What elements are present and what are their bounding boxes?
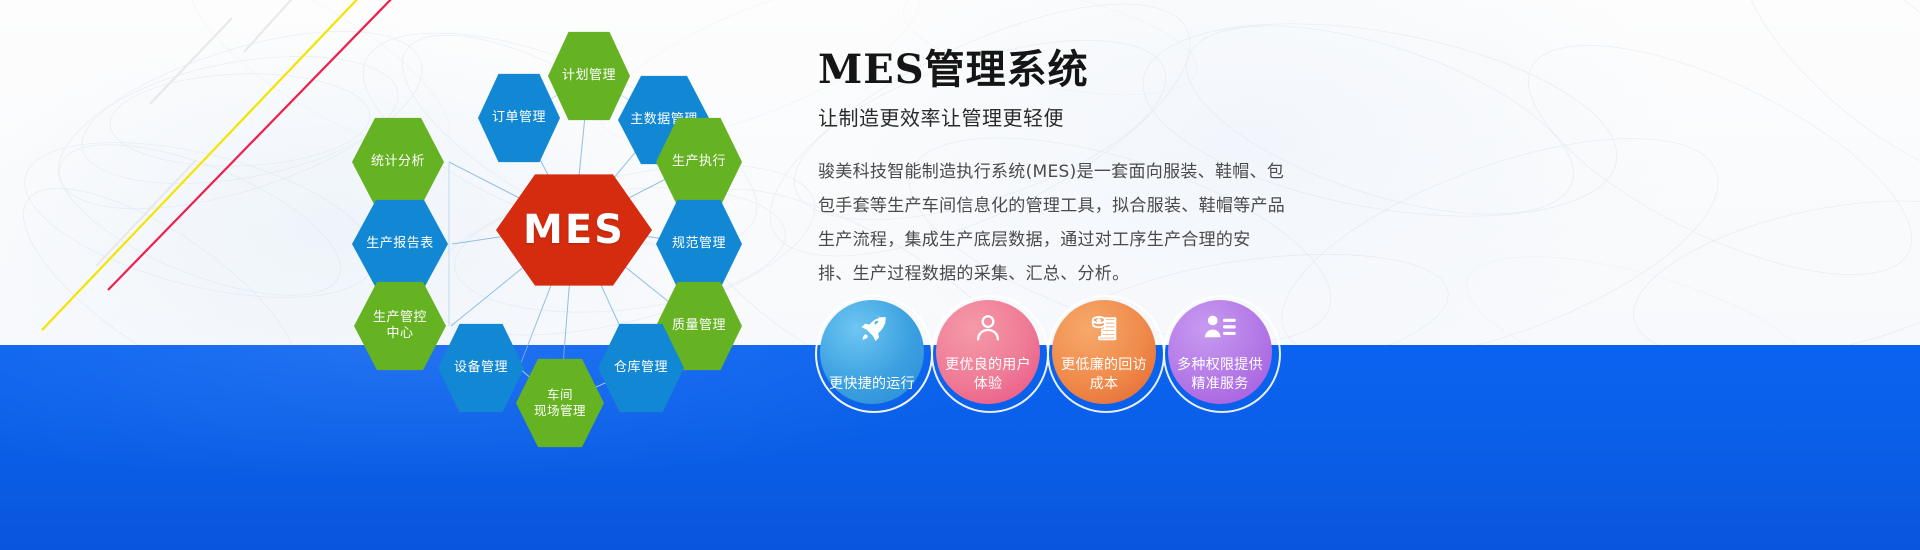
hex-node-label: 仓库管理 <box>614 360 668 376</box>
hex-node-label: 生产报告表 <box>366 236 434 252</box>
page-title: MES管理系统 <box>818 48 1518 92</box>
hex-node-label: 车间 现场管理 <box>534 387 586 418</box>
feature-badge-user-experience[interactable]: 更优良的用户体验 <box>936 300 1040 404</box>
hex-node-label: 统计分析 <box>371 154 425 170</box>
feature-badge-permissions[interactable]: 多种权限提供精准服务 <box>1168 300 1272 404</box>
badge-label: 更低廉的回访成本 <box>1056 356 1152 394</box>
user-list-icon <box>1168 312 1272 342</box>
mes-hexagon-diagram: 计划管理 订单管理 主数据管理 统计分析 生产执行 生产报告表 规范管理 生产管… <box>330 12 800 432</box>
feature-badge-fast-operation[interactable]: 更快捷的运行 <box>820 300 924 404</box>
badge-label: 更优良的用户体验 <box>940 356 1036 394</box>
badge-label: 更快捷的运行 <box>824 375 920 394</box>
core-label: MES <box>523 205 625 255</box>
content-panel: MES管理系统 让制造更效率让管理更轻便 骏美科技智能制造执行系统(MES)是一… <box>818 48 1518 291</box>
hex-node-label: 订单管理 <box>492 110 546 126</box>
description-paragraph: 骏美科技智能制造执行系统(MES)是一套面向服装、鞋帽、包包手套等生产车间信息化… <box>818 155 1288 291</box>
rocket-icon <box>820 312 924 346</box>
hex-node-label: 设备管理 <box>454 360 508 376</box>
hex-node-label: 生产管控 中心 <box>373 310 427 343</box>
badge-label: 多种权限提供精准服务 <box>1172 356 1268 394</box>
coins-icon <box>1052 312 1156 344</box>
feature-badge-list: 更快捷的运行 更优良的用户体验 <box>820 300 1272 404</box>
user-icon <box>936 312 1040 344</box>
hex-node-label: 规范管理 <box>672 236 726 252</box>
hex-node-label: 计划管理 <box>562 68 616 84</box>
hex-node-label: 质量管理 <box>672 318 726 334</box>
hex-node-label: 生产执行 <box>672 154 726 170</box>
banner-stage: 计划管理 订单管理 主数据管理 统计分析 生产执行 生产报告表 规范管理 生产管… <box>0 0 1920 550</box>
page-subtitle: 让制造更效率让管理更轻便 <box>818 102 1518 131</box>
feature-badge-low-cost[interactable]: 更低廉的回访成本 <box>1052 300 1156 404</box>
